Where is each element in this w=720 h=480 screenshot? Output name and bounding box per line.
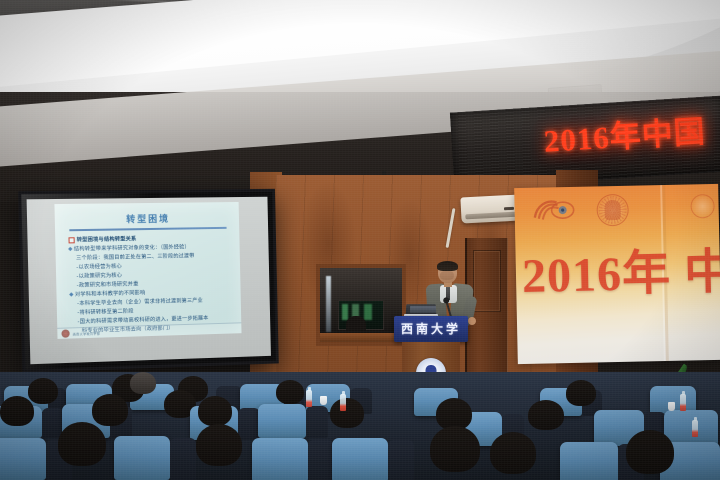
auditorium-seat bbox=[258, 404, 306, 438]
audience-head bbox=[0, 396, 34, 426]
control-booth-window bbox=[316, 264, 406, 346]
audience-head bbox=[566, 380, 596, 406]
slide-bullet-arrow-marker bbox=[68, 247, 72, 251]
presenter-hair bbox=[437, 261, 458, 271]
auditorium-seat bbox=[332, 438, 388, 480]
air-conditioner-indicator bbox=[504, 207, 514, 211]
water-bottle bbox=[306, 390, 312, 407]
presenter-hand bbox=[468, 317, 476, 325]
auditorium-seat bbox=[0, 438, 46, 480]
slide-title: 转型困境 bbox=[55, 211, 239, 227]
auditorium-seat bbox=[308, 440, 334, 480]
paper-cup bbox=[320, 396, 327, 405]
audience-head bbox=[430, 426, 480, 472]
air-conditioner-unit bbox=[460, 194, 521, 223]
slide-bullet-arrow-marker bbox=[69, 292, 73, 296]
auditorium-seat bbox=[388, 440, 414, 480]
swirl-eye-logo bbox=[532, 197, 577, 224]
auditorium-seat bbox=[306, 406, 328, 438]
slide-body: 转型困境与结构转型关系 结构转型带来学科研究对象的变化：（国外经验） 三个阶段：… bbox=[68, 234, 233, 337]
projection-screen: 转型困境 转型困境与结构转型关系 结构转型带来学科研究对象的变化：（国外经验） … bbox=[18, 189, 279, 373]
auditorium-seat bbox=[238, 408, 260, 440]
auditorium-seat bbox=[560, 442, 618, 480]
air-conditioner-vent bbox=[465, 212, 517, 220]
auditorium-seat bbox=[114, 436, 170, 480]
audience-head bbox=[196, 424, 242, 466]
audience-head bbox=[130, 372, 156, 394]
audience-head bbox=[28, 378, 58, 404]
laptop-screen bbox=[410, 306, 436, 313]
banner-title-text: 2016年 中 bbox=[521, 232, 720, 306]
slide-title-rule bbox=[69, 227, 226, 231]
event-banner: 2016年 中 bbox=[514, 184, 720, 364]
small-seal-logo bbox=[690, 194, 714, 218]
auditorium-seat bbox=[252, 438, 308, 480]
water-bottle bbox=[340, 394, 346, 411]
slide-footer-text: 西南大学教育学部 bbox=[73, 332, 101, 337]
water-bottle bbox=[680, 394, 686, 411]
audience-head bbox=[528, 400, 564, 430]
auditorium-seat bbox=[170, 438, 196, 480]
conference-hall-photo: 2016年中国 转型困境 转型困境与结构转型关系 bbox=[0, 0, 720, 480]
audience-head bbox=[198, 396, 232, 426]
seal-center-figure bbox=[604, 200, 620, 220]
presentation-slide: 转型困境 转型困境与结构转型关系 结构转型带来学科研究对象的变化：（国外经验） … bbox=[54, 202, 241, 339]
paper-cup bbox=[668, 402, 675, 411]
audience-head bbox=[276, 380, 304, 404]
podium-name-plate-text: 西南大学 bbox=[394, 320, 468, 337]
audience-area bbox=[0, 372, 720, 480]
water-bottle bbox=[692, 420, 698, 437]
circular-seal-logo bbox=[596, 194, 629, 227]
audience-head bbox=[490, 432, 536, 474]
slide-bullet-square-marker bbox=[68, 237, 74, 243]
booth-light-strip bbox=[326, 276, 331, 332]
presenter-face-shadow bbox=[440, 271, 454, 280]
podium-name-plate: 西南大学 bbox=[394, 316, 468, 342]
auditorium-seat bbox=[664, 410, 718, 446]
audience-head bbox=[626, 430, 674, 474]
audience-head bbox=[58, 422, 106, 466]
audience-head bbox=[92, 394, 128, 426]
audience-head bbox=[330, 398, 364, 428]
booth-window-ledge bbox=[320, 333, 402, 342]
